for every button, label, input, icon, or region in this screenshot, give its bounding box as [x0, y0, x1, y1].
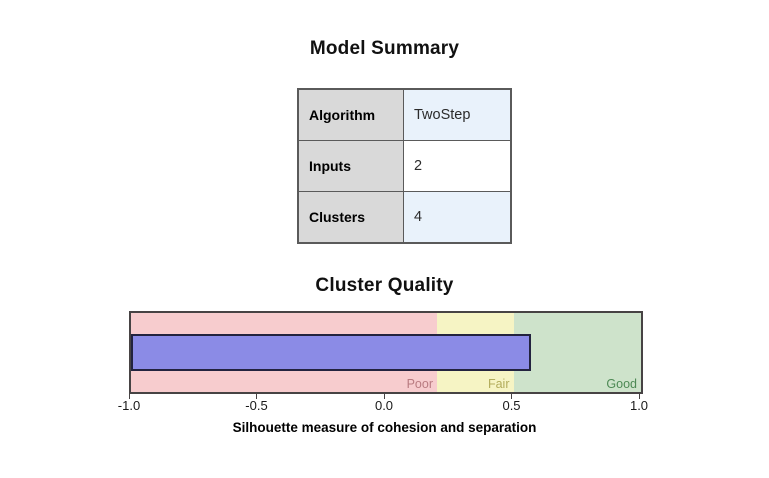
summary-label-cell: Clusters [298, 192, 404, 244]
table-row: Inputs2 [298, 141, 511, 192]
x-axis-title: Silhouette measure of cohesion and separ… [0, 420, 769, 435]
summary-label-cell: Inputs [298, 141, 404, 192]
quality-band-label-fair: Fair [488, 377, 510, 391]
x-axis-tick-label: -1.0 [118, 398, 140, 413]
cluster-quality-title: Cluster Quality [0, 275, 769, 297]
quality-band-label-poor: Poor [407, 377, 433, 391]
x-axis-tick-label: -0.5 [245, 398, 267, 413]
table-row: Clusters4 [298, 192, 511, 244]
table-row: AlgorithmTwoStep [298, 89, 511, 141]
summary-value-cell: TwoStep [404, 89, 512, 141]
x-axis-tick-label: 0.0 [375, 398, 393, 413]
x-axis-tick-label: 1.0 [630, 398, 648, 413]
x-axis-tick-label: 0.5 [502, 398, 520, 413]
quality-band-good: Good [514, 313, 642, 392]
silhouette-measure-bar [131, 334, 531, 371]
summary-value-cell: 4 [404, 192, 512, 244]
model-summary-table: AlgorithmTwoStepInputs2Clusters4 [297, 88, 512, 244]
summary-label-cell: Algorithm [298, 89, 404, 141]
model-summary-table-body: AlgorithmTwoStepInputs2Clusters4 [298, 89, 511, 243]
quality-band-label-good: Good [606, 377, 637, 391]
model-summary-title: Model Summary [0, 38, 769, 60]
summary-value-cell: 2 [404, 141, 512, 192]
cluster-quality-plot: PoorFairGood [129, 311, 643, 394]
x-axis-tick-labels: -1.0-0.50.00.51.0 [129, 398, 639, 414]
